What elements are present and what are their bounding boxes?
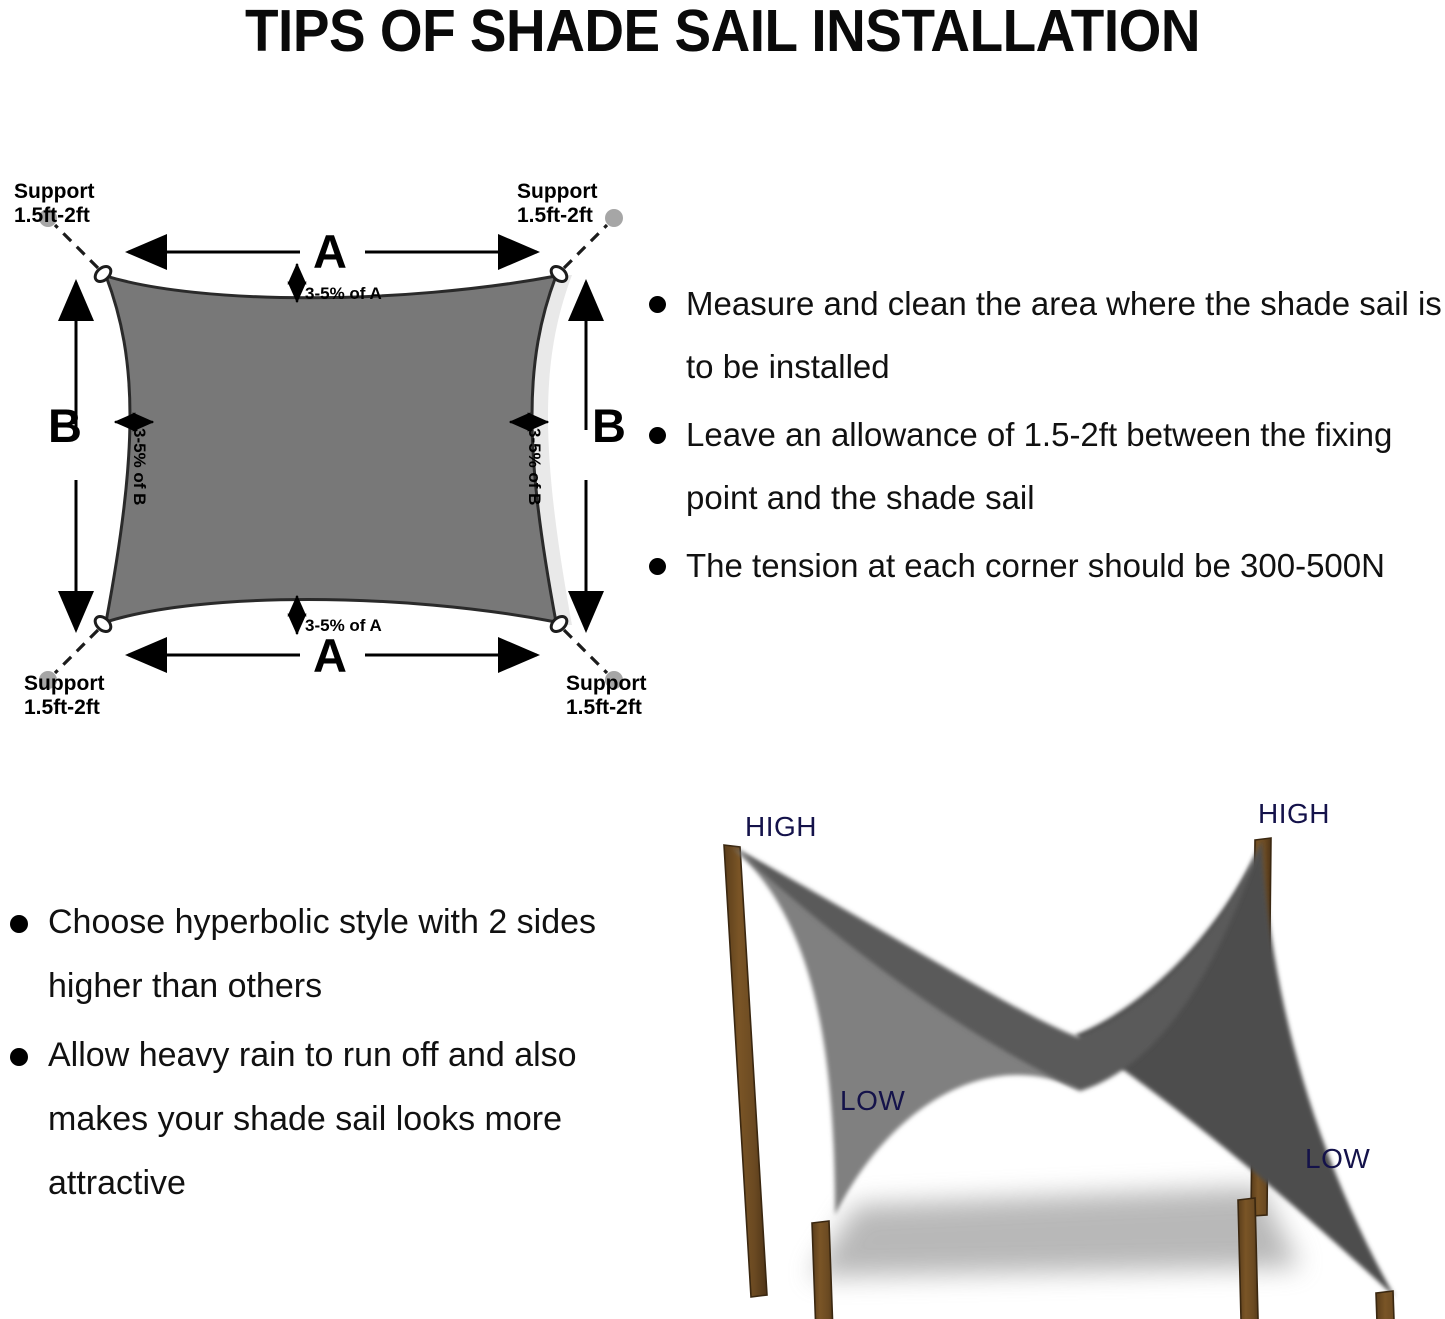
support-label-bottom-left: Support 1.5ft-2ft [24,672,104,719]
support-label-line1: Support [14,180,94,203]
support-label-line2: 1.5ft-2ft [24,696,100,719]
label-low-right: LOW [1305,1143,1370,1175]
curvature-label-top: 3-5% of A [305,284,382,303]
support-label-line2: 1.5ft-2ft [517,204,593,227]
dimension-letter-a-bottom: A [313,630,346,683]
curvature-label-left: 3-5% of B [130,428,149,505]
list-item: Allow heavy rain to run off and also mak… [0,1023,640,1215]
post-low-right [1376,1291,1402,1319]
support-label-top-right: Support 1.5ft-2ft [517,180,597,227]
support-label-bottom-right: Support 1.5ft-2ft [566,672,646,719]
dimension-letter-b-right: B [592,400,625,453]
dimension-letter-b-left: B [48,400,81,453]
hyperbolic-sail-svg [660,785,1445,1319]
post-low-left [812,1221,835,1319]
hyperbolic-tips-list: Choose hyperbolic style with 2 sides hig… [0,890,640,1220]
label-low-left: LOW [840,1085,905,1117]
installation-tips-list: Measure and clean the area where the sha… [640,272,1445,602]
curvature-label-bottom: 3-5% of A [305,616,382,635]
dimension-letter-a-top: A [313,226,346,279]
support-label-top-left: Support 1.5ft-2ft [14,180,94,227]
hyperbolic-shade-sail-illustration: HIGH HIGH LOW LOW [660,785,1445,1319]
label-high-left: HIGH [745,811,817,843]
curvature-label-right: 3-5% of B [525,428,544,505]
list-item: Measure and clean the area where the sha… [640,272,1445,398]
label-high-right: HIGH [1258,798,1330,830]
post-high-left [724,845,767,1297]
sail-body [106,276,556,622]
page-title: TIPS OF SHADE SAIL INSTALLATION [51,0,1395,66]
support-label-line2: 1.5ft-2ft [14,204,90,227]
list-item: Leave an allowance of 1.5-2ft between th… [640,403,1445,529]
support-label-line1: Support [517,180,597,203]
support-label-line1: Support [566,672,646,695]
list-item: The tension at each corner should be 300… [640,534,1445,597]
list-item: Choose hyperbolic style with 2 sides hig… [0,890,640,1018]
support-label-line2: 1.5ft-2ft [566,696,642,719]
support-label-line1: Support [24,672,104,695]
rectangular-shade-sail-dimension-diagram: Support 1.5ft-2ft Support 1.5ft-2ft Supp… [0,160,660,720]
ground-shadow [810,1187,1300,1277]
